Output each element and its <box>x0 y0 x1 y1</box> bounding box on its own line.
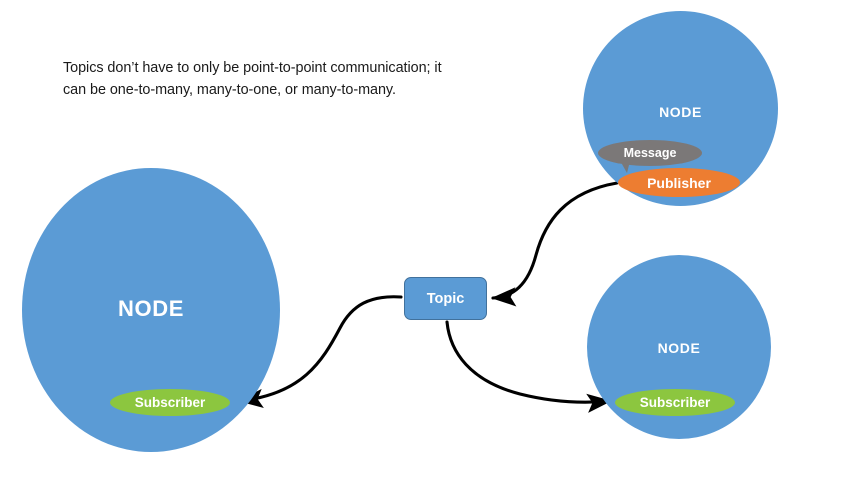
subscriber-pill-left-label: Subscriber <box>135 395 206 410</box>
message-callout-label: Message <box>624 146 677 160</box>
diagram-canvas: Topics don’t have to only be point-to-po… <box>0 0 854 480</box>
node-left-subscriber-label: NODE <box>22 296 280 322</box>
subscriber-pill-bottom-right-label: Subscriber <box>640 395 711 410</box>
message-callout[interactable]: Message <box>598 140 702 166</box>
node-top-right-publisher-label: NODE <box>583 104 778 120</box>
edge-topic-to-bottom-sub <box>447 322 610 402</box>
topic-box-label: Topic <box>427 291 465 307</box>
topic-box[interactable]: Topic <box>404 277 487 320</box>
node-bottom-right-subscriber-label: NODE <box>587 340 771 356</box>
publisher-pill-label: Publisher <box>647 175 711 191</box>
subscriber-pill-left[interactable]: Subscriber <box>110 389 230 416</box>
caption-text: Topics don’t have to only be point-to-po… <box>63 58 483 102</box>
edge-publisher-to-topic <box>493 183 617 298</box>
subscriber-pill-bottom-right[interactable]: Subscriber <box>615 389 735 416</box>
publisher-pill[interactable]: Publisher <box>618 168 740 197</box>
